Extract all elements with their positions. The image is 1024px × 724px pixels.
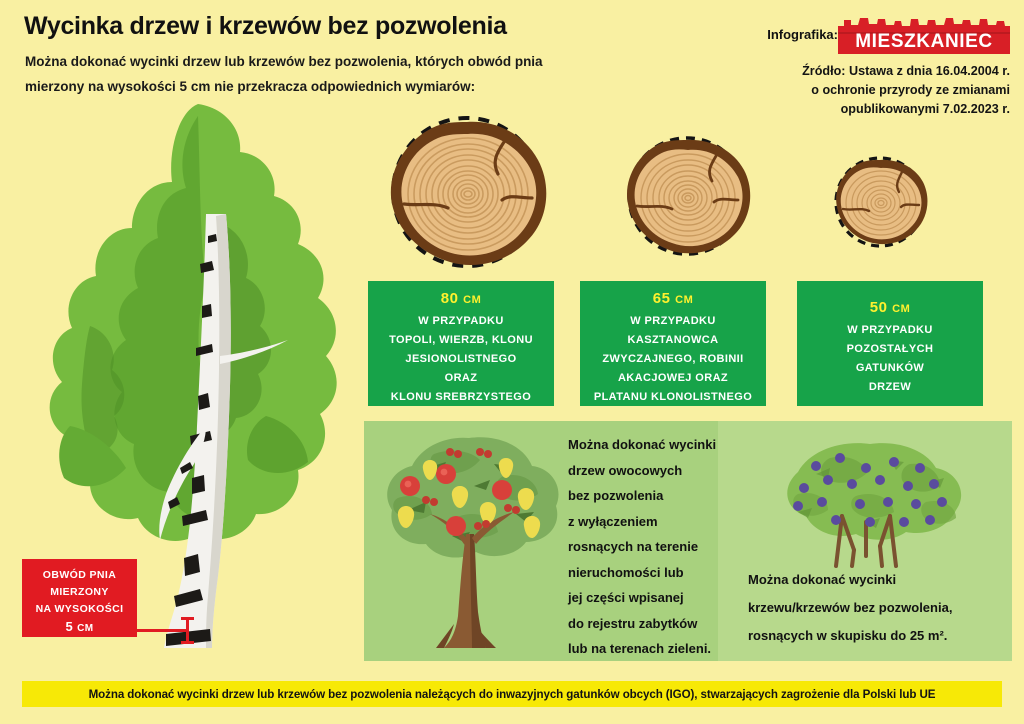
source-line-1: Źródło: Ustawa z dnia 16.04.2004 r.	[750, 62, 1010, 81]
spec-line: POZOSTAŁYCH	[797, 340, 983, 359]
spec-line: KLONU SREBRZYSTEGO	[368, 388, 554, 407]
fruit-text-line: drzew owocowych	[568, 458, 748, 484]
fruit-tree-illustration	[374, 430, 564, 658]
spec-size-50: 50 CM	[797, 299, 983, 316]
spec-line: DRZEW	[797, 378, 983, 397]
stump-small-illustration	[824, 152, 936, 252]
callout-line-2: MIERZONY	[22, 584, 137, 601]
callout-height-marker-icon	[186, 617, 189, 644]
shrub-text-line: Można dokonać wycinki	[748, 566, 1013, 594]
spec-line: W PRZYPADKU	[368, 312, 554, 331]
fruit-text-line: z wyłączeniem	[568, 509, 748, 535]
source-note: Źródło: Ustawa z dnia 16.04.2004 r. o oc…	[750, 62, 1010, 119]
birch-foliage	[50, 104, 337, 541]
source-line-2: o ochronie przyrody ze zmianami	[750, 81, 1010, 100]
shrub-text-line: krzewu/krzewów bez pozwolenia,	[748, 594, 1013, 622]
spec-line: AKACJOWEJ ORAZ	[580, 369, 766, 388]
shrub-text-line: rosnących w skupisku do 25 m².	[748, 622, 1013, 650]
trunk-measurement-callout: OBWÓD PNIA MIERZONY NA WYSOKOŚCI 5 CM	[22, 559, 137, 637]
shrub-exception-text: Można dokonać wycinki krzewu/krzewów bez…	[748, 566, 1013, 650]
spec-line: JESIONOLISTNEGO	[368, 350, 554, 369]
fruit-text-line: lub na terenach zieleni.	[568, 636, 748, 662]
bottom-banner: Można dokonać wycinki drzew lub krzewów …	[22, 681, 1002, 707]
stump-large-illustration	[372, 112, 562, 272]
fruit-tree-exception-text: Można dokonać wycinki drzew owocowych be…	[568, 432, 748, 662]
spec-line: KASZTANOWCA	[580, 331, 766, 350]
spec-line: TOPOLI, WIERZB, KLONU	[368, 331, 554, 350]
stump-medium-illustration	[612, 132, 762, 260]
fruit-text-line: jej części wpisanej	[568, 585, 748, 611]
fruit-text-line: do rejestru zabytków	[568, 611, 748, 637]
callout-value: 5 CM	[22, 618, 137, 637]
callout-line-1: OBWÓD PNIA	[22, 567, 137, 584]
fruit-text-line: rosnących na terenie	[568, 534, 748, 560]
spec-line: ZWYCZAJNEGO, ROBINII	[580, 350, 766, 369]
source-line-3: opublikowanymi 7.02.2023 r.	[750, 100, 1010, 119]
page-subtitle: Można dokonać wycinki drzew lub krzewów …	[25, 49, 625, 99]
spec-line: PLATANU KLONOLISTNEGO	[580, 388, 766, 407]
infographic-credit-label: Infografika:	[767, 27, 838, 42]
spec-box-50cm: 50 CM W PRZYPADKU POZOSTAŁYCH GATUNKÓW D…	[797, 281, 983, 406]
bottom-banner-text: Można dokonać wycinki drzew lub krzewów …	[89, 688, 936, 701]
callout-pointer-line	[137, 629, 189, 632]
spec-line: ORAZ	[368, 369, 554, 388]
shrub-foliage	[787, 443, 961, 540]
spec-size-80: 80 CM	[368, 290, 554, 307]
subtitle-line-1: Można dokonać wycinki drzew lub krzewów …	[25, 49, 625, 74]
spec-box-65cm: 65 CM W PRZYPADKU KASZTANOWCA ZWYCZAJNEG…	[580, 281, 766, 406]
spec-line: W PRZYPADKU	[580, 312, 766, 331]
mieszkaniec-logo: MIESZKANIEC	[838, 16, 1010, 54]
spec-size-65: 65 CM	[580, 290, 766, 307]
spec-line: W PRZYPADKU	[797, 321, 983, 340]
spec-box-80cm: 80 CM W PRZYPADKU TOPOLI, WIERZB, KLONU …	[368, 281, 554, 406]
logo-text: MIESZKANIEC	[838, 31, 1010, 53]
fruit-text-line: nieruchomości lub	[568, 560, 748, 586]
spec-line: GATUNKÓW	[797, 359, 983, 378]
fruit-text-line: Można dokonać wycinki	[568, 432, 748, 458]
callout-line-3: NA WYSOKOŚCI	[22, 601, 137, 618]
berry-shrub-illustration	[770, 440, 970, 570]
page-title: Wycinka drzew i krzewów bez pozwolenia	[24, 12, 507, 41]
infographic-page: Wycinka drzew i krzewów bez pozwolenia M…	[0, 0, 1024, 724]
fruit-text-line: bez pozwolenia	[568, 483, 748, 509]
